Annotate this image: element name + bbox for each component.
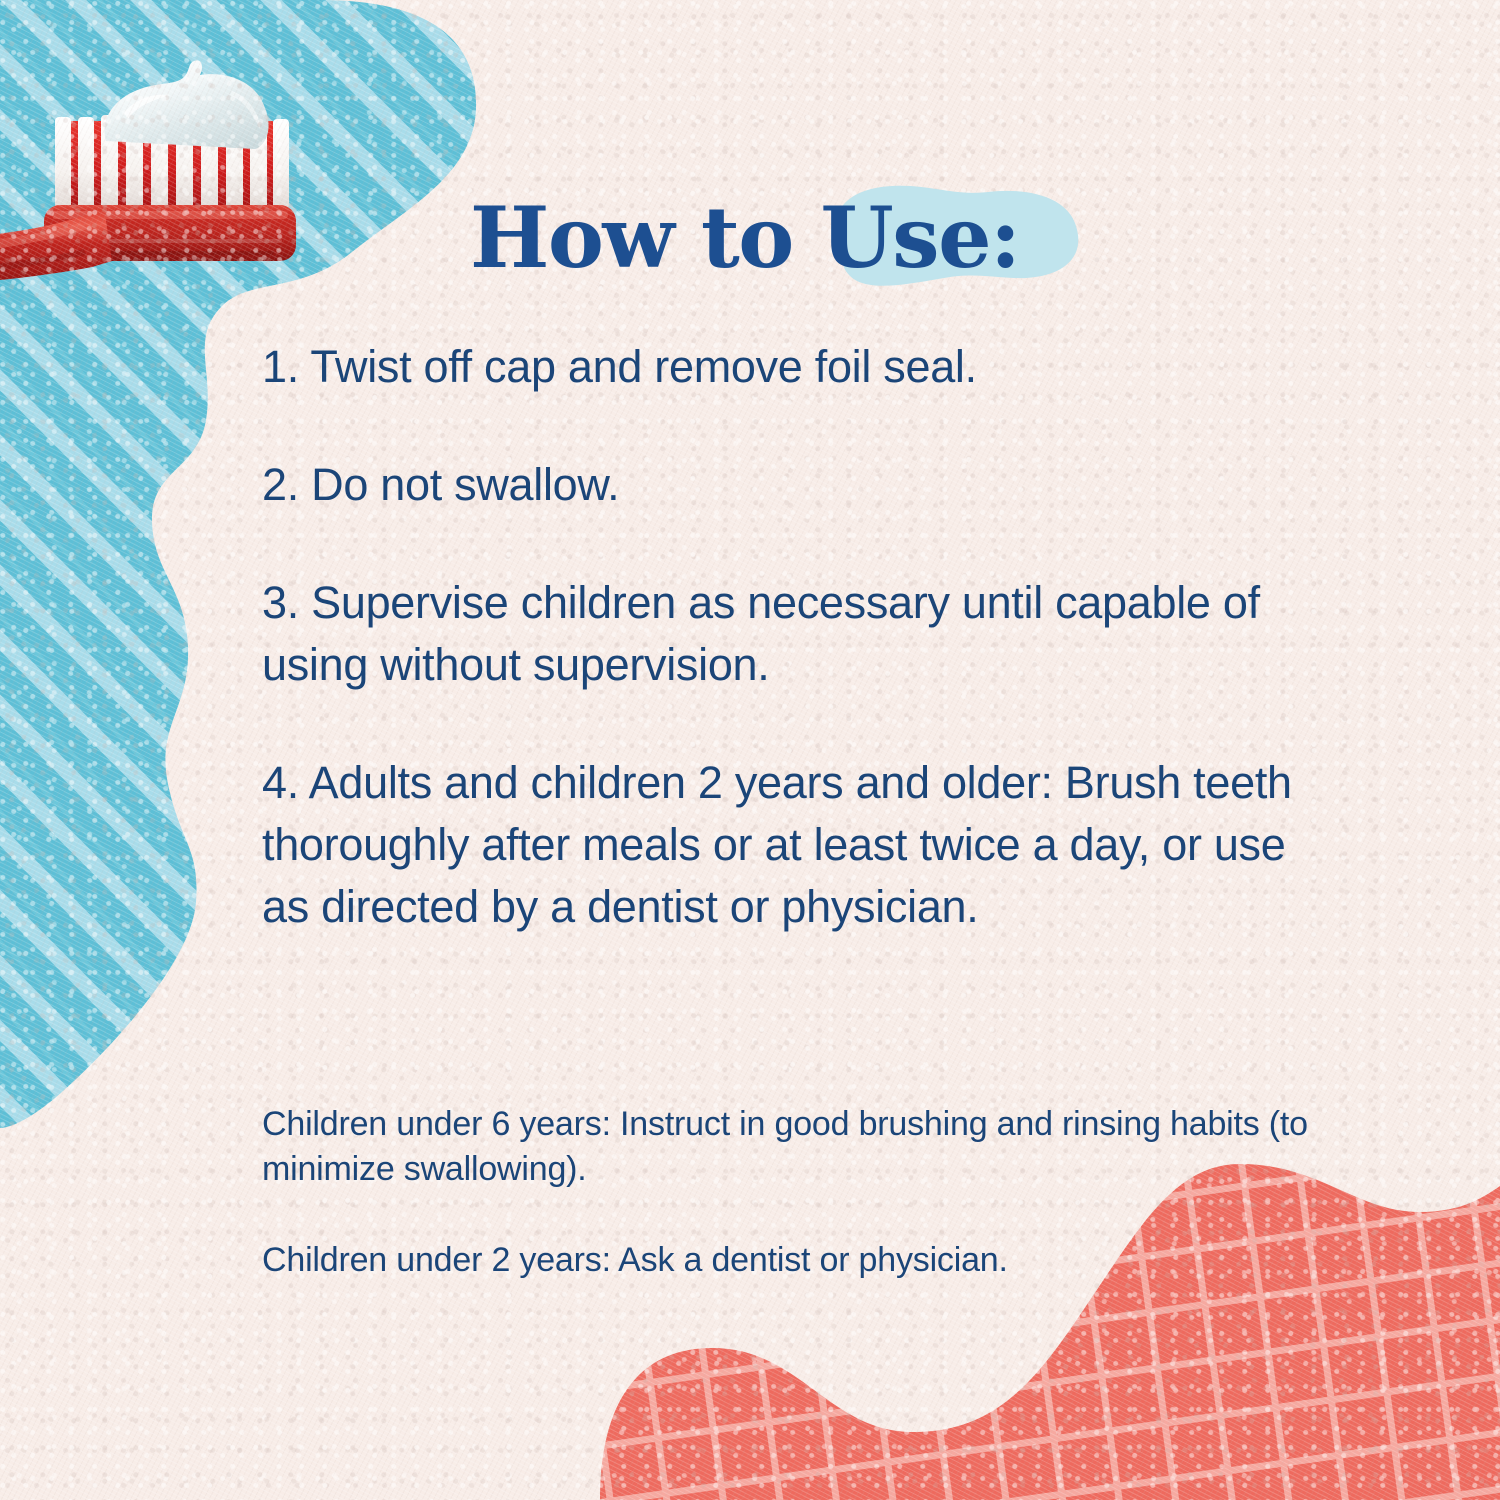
instruction-step-4: 4. Adults and children 2 years and older… <box>262 752 1322 938</box>
instruction-steps-list: 1. Twist off cap and remove foil seal. 2… <box>262 336 1322 938</box>
instruction-notes-list: Children under 6 years: Instruct in good… <box>262 1102 1312 1283</box>
instruction-step-1: 1. Twist off cap and remove foil seal. <box>262 336 1322 398</box>
poster-canvas: How to Use: 1. Twist off cap and remove … <box>0 0 1500 1500</box>
page-title: How to Use: <box>470 186 1090 290</box>
note-children-under-6: Children under 6 years: Instruct in good… <box>262 1102 1312 1192</box>
note-children-under-2: Children under 2 years: Ask a dentist or… <box>262 1238 1312 1283</box>
title-block: How to Use: <box>470 186 1090 296</box>
instruction-step-2: 2. Do not swallow. <box>262 454 1322 516</box>
instruction-step-3: 3. Supervise children as necessary until… <box>262 572 1322 696</box>
poster-content: How to Use: 1. Twist off cap and remove … <box>0 0 1500 1500</box>
